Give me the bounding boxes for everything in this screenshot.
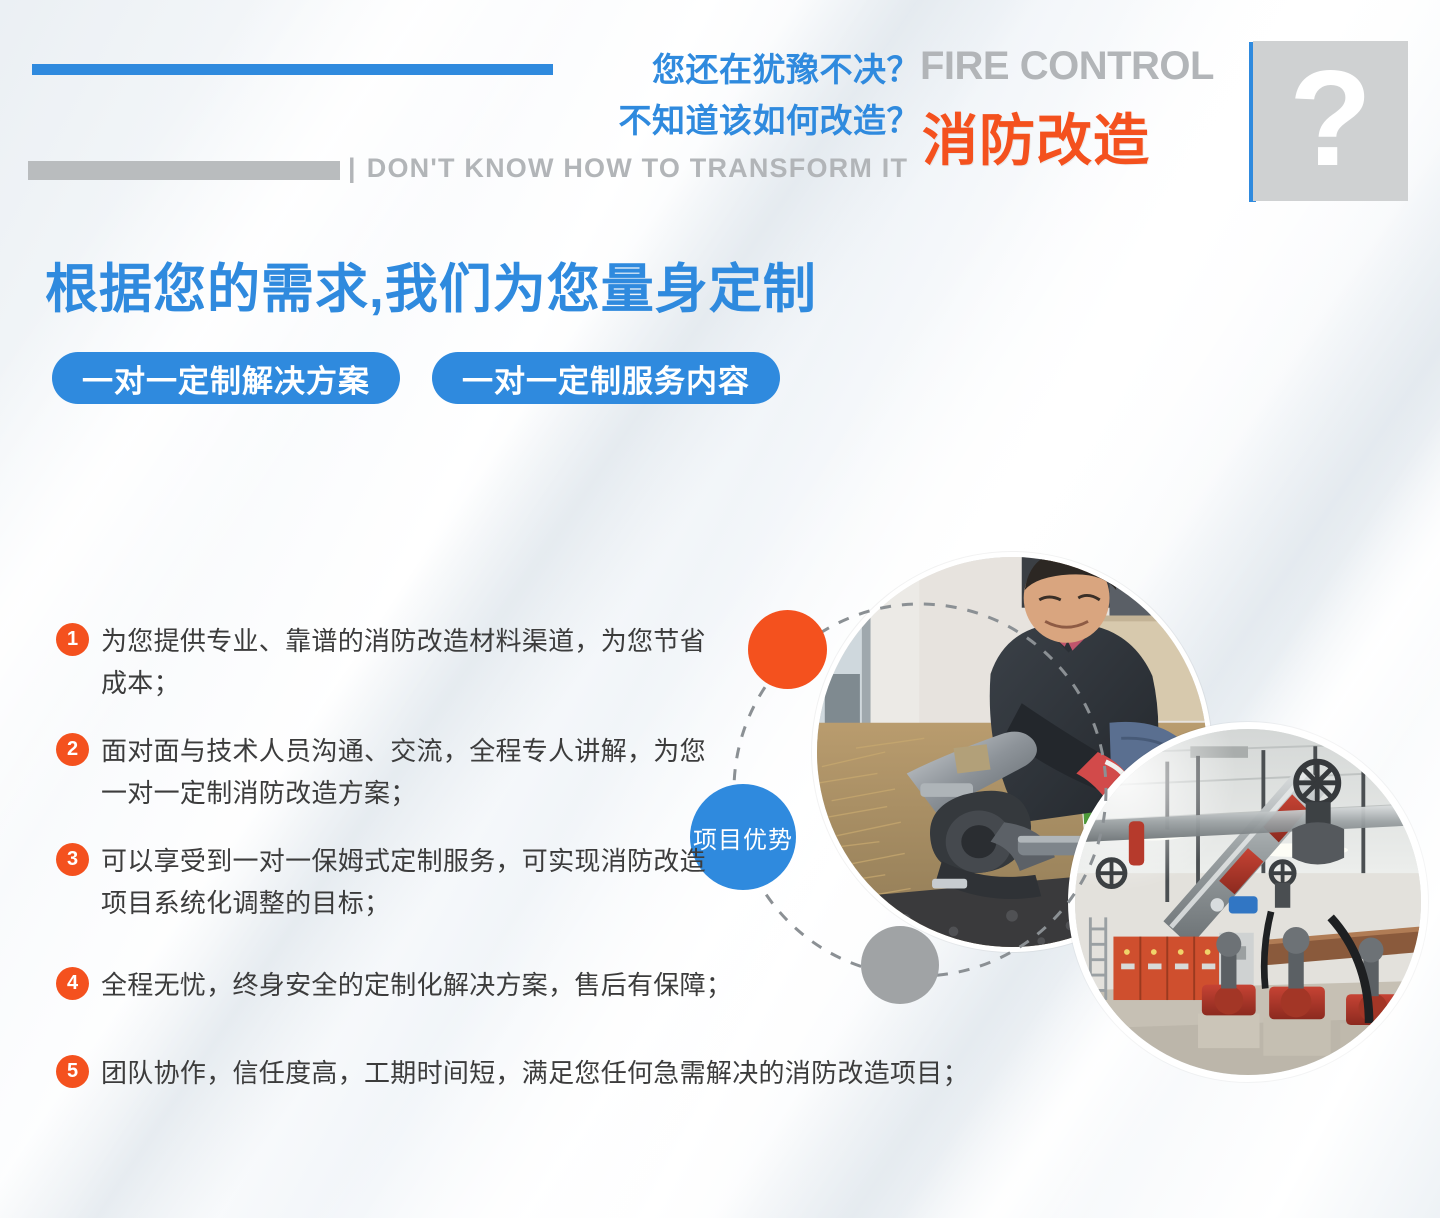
page-title: 根据您的需求,我们为您量身定制 <box>45 247 817 323</box>
accent-dot-gray <box>861 926 939 1004</box>
list-item-number: 1 <box>56 623 89 656</box>
photo-fire-pump-room <box>1068 722 1428 1082</box>
pill-row: 一对一定制解决方案 一对一定制服务内容 <box>52 352 780 404</box>
photo-pump-room-illustration <box>1075 729 1421 1075</box>
pill-custom-solution[interactable]: 一对一定制解决方案 <box>52 352 400 404</box>
list-item: 3 可以享受到一对一保姆式定制服务，可实现消防改造项目系统化调整的目标； <box>56 840 716 924</box>
list-item-text: 全程无忧，终身安全的定制化解决方案，售后有保障； <box>101 964 732 1006</box>
list-item-number: 5 <box>56 1055 89 1088</box>
list-item: 2 面对面与技术人员沟通、交流，全程专人讲解，为您一对一定制消防改造方案； <box>56 730 716 814</box>
decorative-blue-bar <box>32 64 553 75</box>
list-item-text: 面对面与技术人员沟通、交流，全程专人讲解，为您一对一定制消防改造方案； <box>101 730 716 814</box>
page-root: 您还在犹豫不决？ 不知道该如何改造？ |DON'T KNOW HOW TO TR… <box>0 0 1440 1218</box>
question-mark-icon: ? <box>1253 41 1408 201</box>
list-item-number: 2 <box>56 733 89 766</box>
pill-custom-service[interactable]: 一对一定制服务内容 <box>432 352 780 404</box>
list-item-text: 团队协作，信任度高，工期时间短，满足您任何急需解决的消防改造项目； <box>101 1052 969 1094</box>
header-english-subtitle: |DON'T KNOW HOW TO TRANSFORM IT <box>348 153 908 184</box>
header-english-subtitle-text: DON'T KNOW HOW TO TRANSFORM IT <box>367 153 908 183</box>
header-fire-control-zh: 消防改造 <box>922 96 1150 177</box>
list-item-number: 3 <box>56 843 89 876</box>
header-question-line1: 您还在犹豫不决？ <box>500 44 920 95</box>
list-item: 5 团队协作，信任度高，工期时间短，满足您任何急需解决的消防改造项目； <box>56 1052 716 1094</box>
list-item: 1 为您提供专业、靠谱的消防改造材料渠道，为您节省成本； <box>56 620 716 704</box>
list-item-text: 可以享受到一对一保姆式定制服务，可实现消防改造项目系统化调整的目标； <box>101 840 716 924</box>
header-fire-control-en: FIRE CONTROL <box>920 44 1214 89</box>
list-item-number: 4 <box>56 967 89 1000</box>
accent-dot-orange <box>748 610 827 689</box>
list-item: 4 全程无忧，终身安全的定制化解决方案，售后有保障； <box>56 964 716 1006</box>
list-item-text: 为您提供专业、靠谱的消防改造材料渠道，为您节省成本； <box>101 620 716 704</box>
header-pipe-glyph: | <box>348 153 357 183</box>
header-question-line2: 不知道该如何改造？ <box>500 95 920 146</box>
header-question-block: 您还在犹豫不决？ 不知道该如何改造？ <box>500 44 920 146</box>
decorative-gray-bar <box>28 161 340 180</box>
advantages-list: 1 为您提供专业、靠谱的消防改造材料渠道，为您节省成本； 2 面对面与技术人员沟… <box>56 620 716 1120</box>
